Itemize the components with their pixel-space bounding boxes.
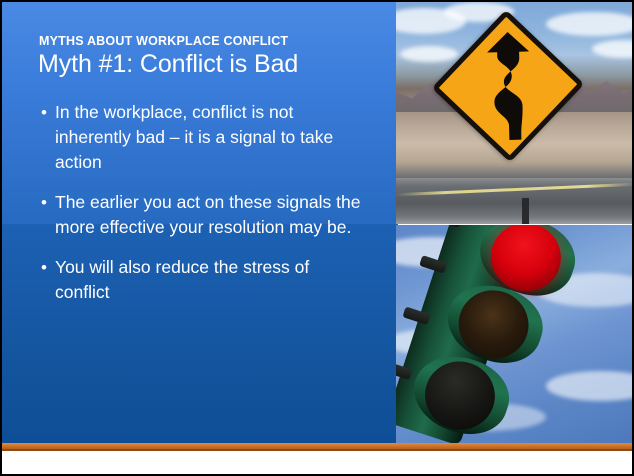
photo-column <box>396 2 634 443</box>
slide-content-panel: MYTHS ABOUT WORKPLACE CONFLICT Myth #1: … <box>2 2 398 443</box>
bullet-marker-icon: • <box>41 255 47 280</box>
winding-arrow-icon <box>481 29 538 142</box>
bullet-marker-icon: • <box>41 100 47 125</box>
bullet-text: You will also reduce the stress of confl… <box>55 257 309 302</box>
bullet-list: • In the workplace, conflict is not inhe… <box>38 100 368 320</box>
list-item: • You will also reduce the stress of con… <box>38 255 368 305</box>
traffic-light-assembly <box>396 225 619 443</box>
traffic-light-photo <box>396 225 634 443</box>
footer-band: Resolving Coworker Conflicts <box>2 451 634 476</box>
bullet-text: The earlier you act on these signals the… <box>55 192 360 237</box>
road-sign <box>430 8 586 164</box>
presentation-slide: MYTHS ABOUT WORKPLACE CONFLICT Myth #1: … <box>0 0 634 476</box>
slide-kicker: MYTHS ABOUT WORKPLACE CONFLICT <box>39 34 288 48</box>
list-item: • The earlier you act on these signals t… <box>38 190 368 240</box>
sign-post <box>522 198 529 224</box>
page-title: Myth #1: Conflict is Bad <box>38 50 298 79</box>
bullet-text: In the workplace, conflict is not inhere… <box>55 102 333 172</box>
list-item: • In the workplace, conflict is not inhe… <box>38 100 368 175</box>
bullet-marker-icon: • <box>41 190 47 215</box>
cloud-shape <box>592 40 634 58</box>
winding-road-sign-photo <box>396 2 634 224</box>
